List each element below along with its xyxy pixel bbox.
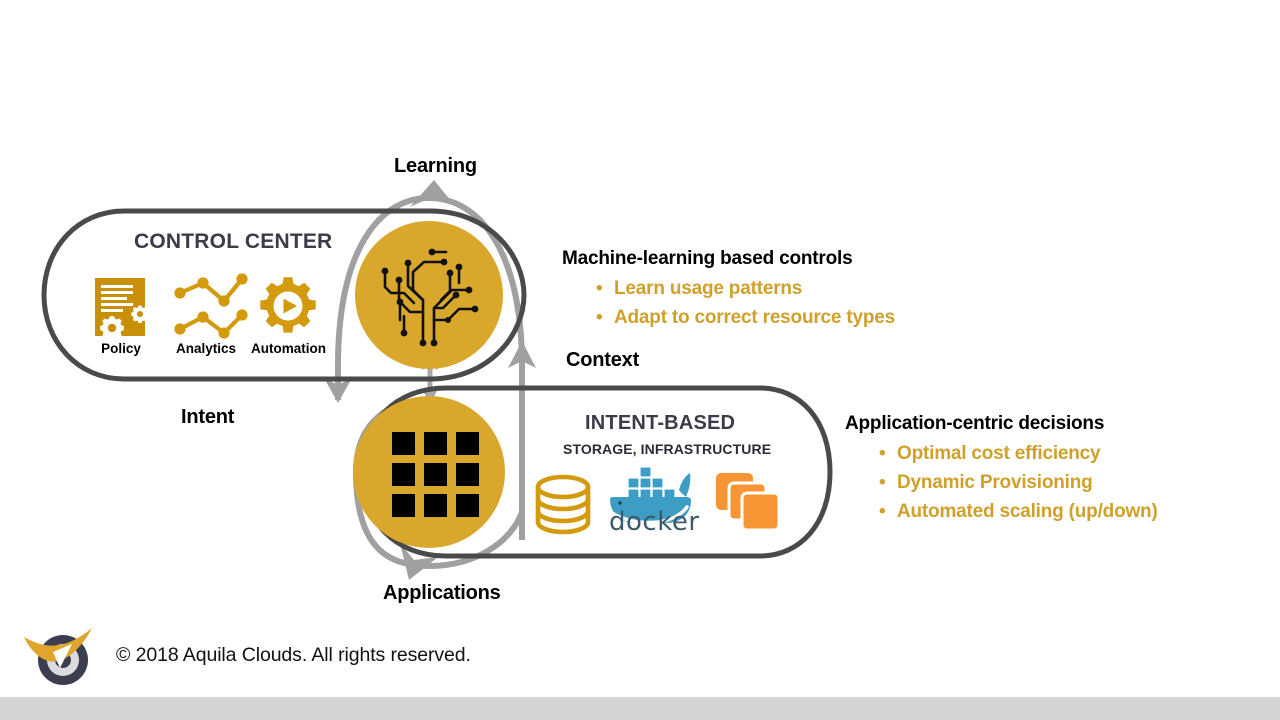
cycle-label-intent: Intent bbox=[181, 406, 234, 429]
callout-item-label: Learn usage patterns bbox=[614, 274, 802, 303]
intent-based-circle bbox=[353, 396, 505, 548]
control-center-circle bbox=[355, 221, 503, 369]
callout-item-label: Automated scaling (up/down) bbox=[897, 497, 1158, 526]
callout-heading: Machine-learning based controls bbox=[562, 248, 895, 270]
bullet-icon: • bbox=[845, 439, 897, 468]
cycle-label-applications: Applications bbox=[383, 582, 501, 605]
automation-icon bbox=[260, 277, 315, 332]
policy-icon bbox=[95, 278, 149, 340]
analytics-icon-label: Analytics bbox=[170, 341, 242, 356]
cycle-label-learning: Learning bbox=[394, 155, 477, 178]
intent-based-title: INTENT-BASED bbox=[585, 412, 735, 435]
database-icon bbox=[538, 477, 588, 532]
docker-wordmark: docker bbox=[609, 507, 700, 537]
callout-machine-learning: Machine-learning based controls • Learn … bbox=[562, 248, 895, 332]
grid-nine-squares-icon bbox=[392, 432, 479, 517]
cycle-label-context: Context bbox=[566, 349, 639, 372]
copyright-text: © 2018 Aquila Clouds. All rights reserve… bbox=[116, 644, 471, 667]
callout-item-label: Dynamic Provisioning bbox=[897, 468, 1093, 497]
analytics-icon bbox=[174, 273, 247, 338]
callout-list: • Learn usage patterns • Adapt to correc… bbox=[562, 274, 895, 332]
bottom-bar bbox=[0, 697, 1280, 720]
callout-heading: Application-centric decisions bbox=[845, 413, 1158, 435]
bullet-icon: • bbox=[845, 468, 897, 497]
callout-item-label: Optimal cost efficiency bbox=[897, 439, 1100, 468]
bullet-icon: • bbox=[562, 274, 614, 303]
intent-based-subtitle: STORAGE, INFRASTRUCTURE bbox=[563, 441, 771, 457]
control-center-title: CONTROL CENTER bbox=[134, 230, 332, 254]
aquila-clouds-logo bbox=[24, 628, 92, 685]
automation-icon-label: Automation bbox=[241, 341, 336, 356]
stacked-squares-icon bbox=[716, 473, 779, 530]
slide-canvas: Learning Context Intent Applications CON… bbox=[0, 0, 1280, 720]
callout-application-centric: Application-centric decisions • Optimal … bbox=[845, 413, 1158, 526]
bullet-icon: • bbox=[562, 303, 614, 332]
learning-arrowhead bbox=[410, 180, 455, 207]
callout-list-item: • Optimal cost efficiency bbox=[845, 439, 1158, 468]
callout-item-label: Adapt to correct resource types bbox=[614, 303, 895, 332]
callout-list: • Optimal cost efficiency • Dynamic Prov… bbox=[845, 439, 1158, 526]
architecture-diagram bbox=[0, 0, 1280, 720]
bullet-icon: • bbox=[845, 497, 897, 526]
callout-list-item: • Learn usage patterns bbox=[562, 274, 895, 303]
callout-list-item: • Adapt to correct resource types bbox=[562, 303, 895, 332]
policy-icon-label: Policy bbox=[95, 341, 147, 356]
callout-list-item: • Dynamic Provisioning bbox=[845, 468, 1158, 497]
callout-list-item: • Automated scaling (up/down) bbox=[845, 497, 1158, 526]
